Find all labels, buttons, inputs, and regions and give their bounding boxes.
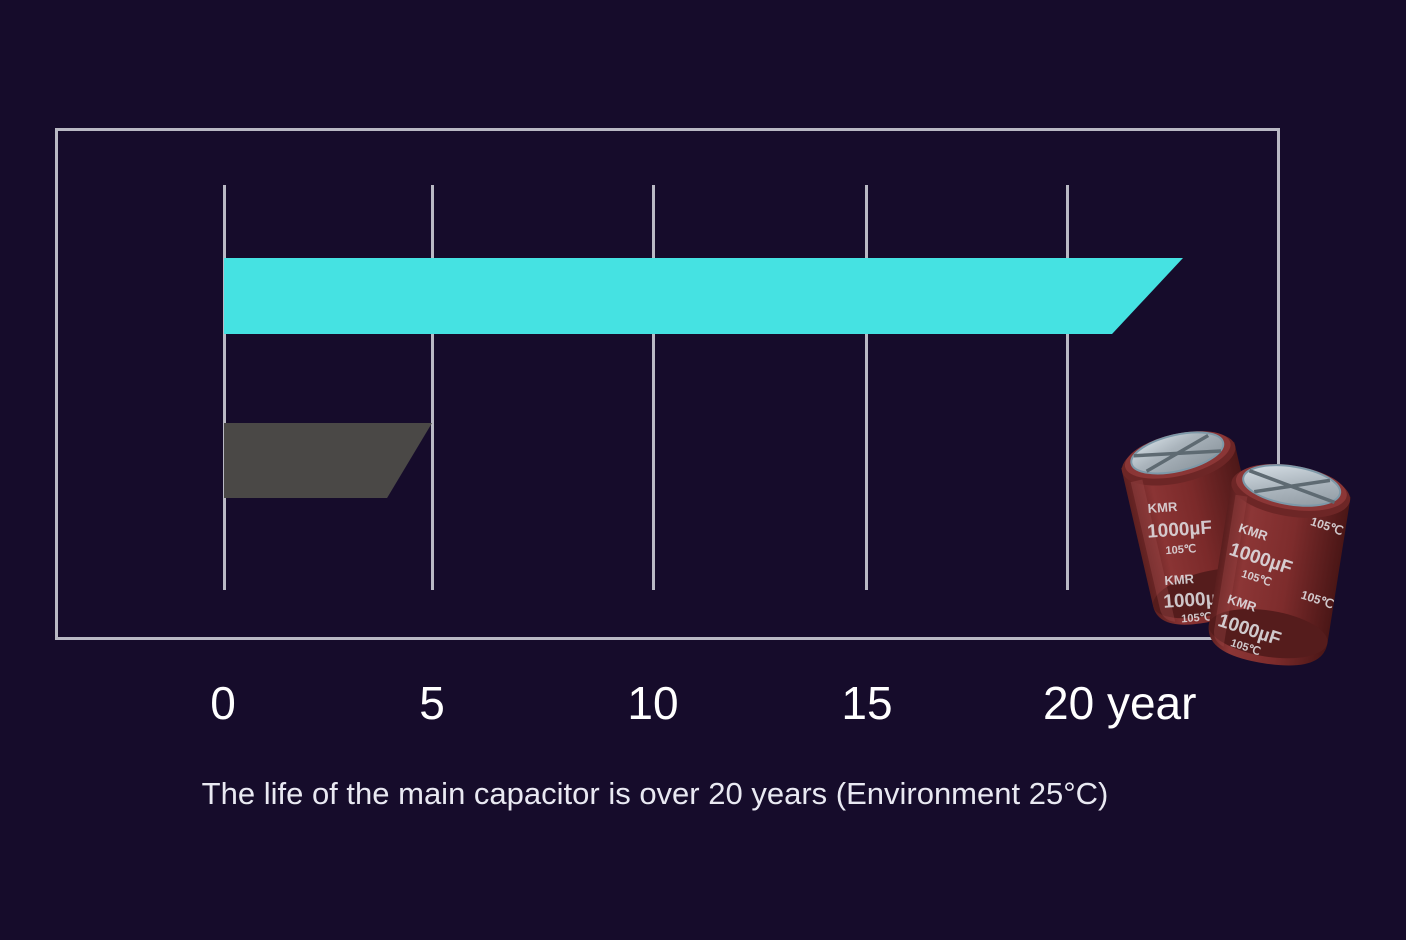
svg-text:KMR: KMR bbox=[1164, 571, 1195, 588]
chart-canvas: KMR 1000µF 105℃ KMR 1000µF 105℃ bbox=[0, 0, 1406, 940]
chart-caption: The life of the main capacitor is over 2… bbox=[0, 770, 1310, 818]
x-axis-tick-labels: 0 5 10 15 20 year bbox=[0, 672, 1406, 736]
x-tick-10: 10 bbox=[627, 672, 678, 734]
gridline-20 bbox=[1066, 185, 1069, 590]
x-tick-15: 15 bbox=[841, 672, 892, 734]
electrolytic-capacitors-photo: KMR 1000µF 105℃ KMR 1000µF 105℃ bbox=[1105, 398, 1370, 670]
x-tick-20-year: 20 year bbox=[1043, 672, 1196, 734]
x-tick-0: 0 bbox=[210, 672, 236, 734]
svg-text:105℃: 105℃ bbox=[1165, 543, 1196, 557]
svg-text:KMR: KMR bbox=[1147, 499, 1178, 516]
x-tick-5: 5 bbox=[419, 672, 445, 734]
gridline-10 bbox=[652, 185, 655, 590]
chart-plot-frame bbox=[55, 128, 1280, 640]
gridline-0 bbox=[223, 185, 226, 590]
gridline-5 bbox=[431, 185, 434, 590]
main-capacitor-life-bar bbox=[224, 258, 1183, 334]
gridline-15 bbox=[865, 185, 868, 590]
svg-text:105℃: 105℃ bbox=[1181, 611, 1212, 625]
